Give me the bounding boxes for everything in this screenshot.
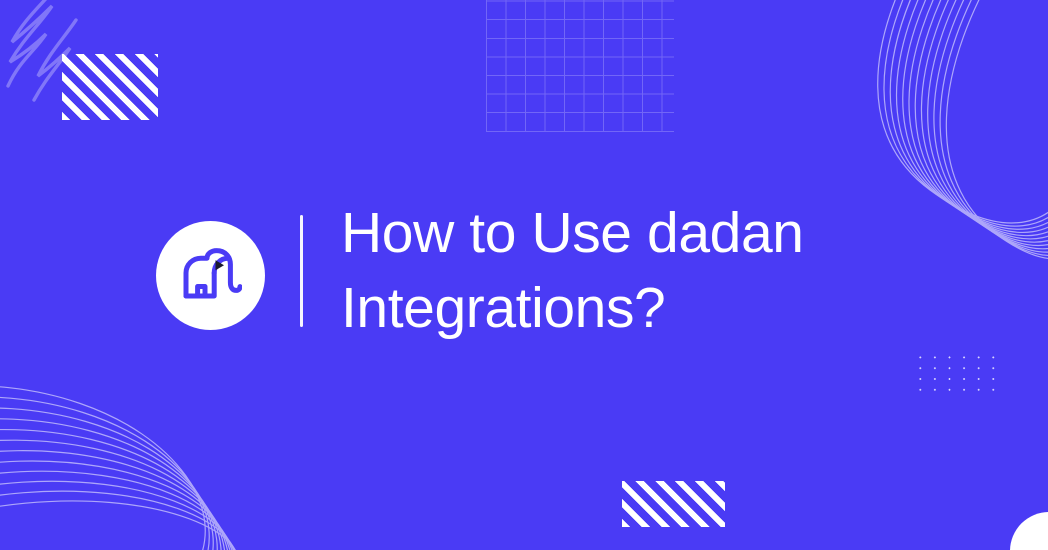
hatch-block-bottom-center [622, 481, 725, 527]
banner-content: How to Use dadan Integrations? [156, 196, 961, 345]
logo-badge [156, 221, 265, 330]
elephant-play-logo-icon [180, 248, 242, 304]
page-title: How to Use dadan Integrations? [341, 196, 961, 345]
line-grid-top-center [486, 0, 674, 132]
scribble-squiggle [0, 0, 104, 110]
corner-circle-bottom-right [1010, 512, 1048, 550]
hatch-block-top-left [62, 54, 158, 120]
thumbnail-banner: How to Use dadan Integrations? [0, 0, 1048, 550]
vertical-divider [300, 215, 303, 327]
dot-grid-mid-right [913, 352, 999, 396]
